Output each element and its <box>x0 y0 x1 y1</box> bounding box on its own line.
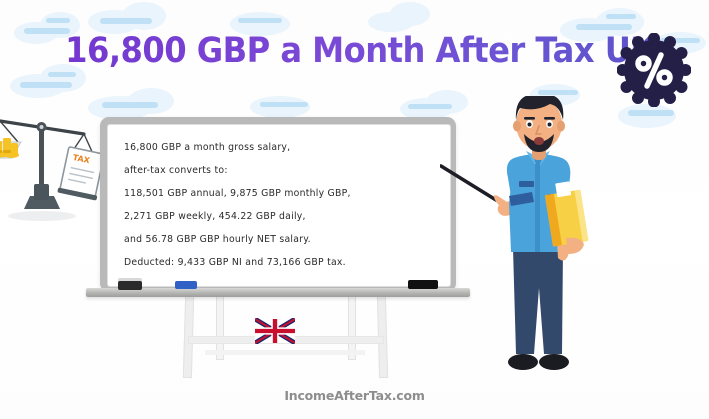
whiteboard-stand-crossbar <box>205 350 365 355</box>
eraser-icon <box>118 281 142 290</box>
whiteboard-line: Deducted: 9,433 GBP NI and 73,166 GBP ta… <box>124 251 446 274</box>
whiteboard-tray <box>86 288 470 297</box>
poster-canvas: 16,800 GBP a Month After Tax UK <box>0 0 709 419</box>
whiteboard-line: after-tax converts to: <box>124 159 446 182</box>
site-footer: IncomeAfterTax.com <box>0 388 709 403</box>
blue-marker-icon <box>175 281 197 289</box>
whiteboard-line: and 56.78 GBP GBP hourly NET salary. <box>124 228 446 251</box>
whiteboard-line: 2,271 GBP weekly, 454.22 GBP daily, <box>124 205 446 228</box>
whiteboard-surface: 16,800 GBP a month gross salary, after-t… <box>107 124 451 287</box>
page-title-text: 16,800 GBP a Month After Tax UK <box>54 31 655 71</box>
whiteboard-text: 16,800 GBP a month gross salary, after-t… <box>124 136 446 274</box>
whiteboard: 16,800 GBP a month gross salary, after-t… <box>100 117 456 292</box>
whiteboard-line: 118,501 GBP annual, 9,875 GBP monthly GB… <box>124 182 446 205</box>
black-marker-icon <box>408 280 438 289</box>
uk-union-jack-flag-icon <box>255 318 295 344</box>
teacher-character <box>440 96 620 378</box>
page-title: 16,800 GBP a Month After Tax UK <box>0 22 709 80</box>
percent-badge-icon <box>617 33 691 107</box>
balance-scale-icon: TAX <box>0 108 108 226</box>
whiteboard-line: 16,800 GBP a month gross salary, <box>124 136 446 159</box>
